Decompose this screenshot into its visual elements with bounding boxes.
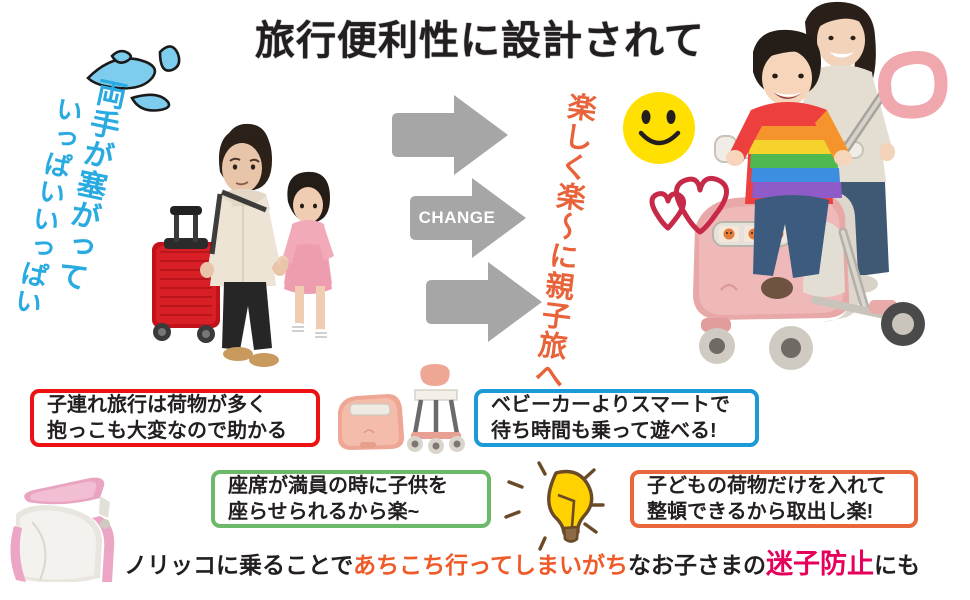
product-shot-side-suitcase [2, 474, 118, 582]
product-shot-folded-frame [405, 362, 467, 454]
callout-orange-line-2: 整頓できるから取出し楽! [647, 499, 901, 525]
caption-part-3: なお子さまの [628, 552, 766, 578]
caption-part-5: にも [874, 552, 920, 578]
callout-green-line-2: 座らせられるから楽~ [228, 499, 474, 525]
callout-blue-line-1: ベビーカーよりスマートで [491, 392, 742, 418]
advertisement-canvas: 旅行便利性に設計されて 両手が塞がって いっぱいいっぱい 楽しく楽〜に親子旅へ … [0, 0, 970, 600]
bottom-caption: ノリッコに乗ることであちこち行ってしまいがちなお子さまの迷子防止にも [124, 551, 920, 578]
callout-blue: ベビーカーよりスマートで 待ち時間も乗って遊べる! [474, 389, 759, 447]
callout-red-line-1: 子連れ旅行は荷物が多く [47, 392, 303, 418]
change-arrow-top [390, 95, 510, 175]
change-arrow-bottom [424, 262, 544, 342]
callout-red-line-2: 抱っこも大変なので助かる [47, 418, 303, 444]
caption-part-4-highlight: 迷子防止 [766, 549, 874, 579]
callout-green: 座席が満員の時に子供を 座らせられるから楽~ [211, 470, 491, 528]
callout-red: 子連れ旅行は荷物が多く 抱っこも大変なので助かる [30, 389, 320, 447]
caption-part-1: ノリッコに乗ることで [124, 552, 353, 578]
caption-part-2-highlight: あちこち行ってしまいがち [353, 552, 628, 578]
right-vertical-text: 楽しく楽〜に親子旅へ [530, 90, 595, 391]
callout-blue-line-2: 待ち時間も乗って遊べる! [491, 418, 742, 444]
change-arrow-middle: CHANGE [408, 178, 528, 258]
girl-figure-walking [278, 172, 335, 343]
lightbulb-icon [506, 463, 603, 549]
page-title: 旅行便利性に設計されて [255, 8, 705, 66]
callout-orange: 子どもの荷物だけを入れて 整頓できるから取出し楽! [630, 470, 918, 528]
change-arrow-label: CHANGE [408, 178, 528, 258]
product-shot-suitcase-closed [334, 388, 406, 450]
callout-green-line-1: 座席が満員の時に子供を [228, 473, 474, 499]
photo-before-mother-and-child [150, 62, 380, 372]
callout-orange-line-1: 子どもの荷物だけを入れて [647, 473, 901, 499]
